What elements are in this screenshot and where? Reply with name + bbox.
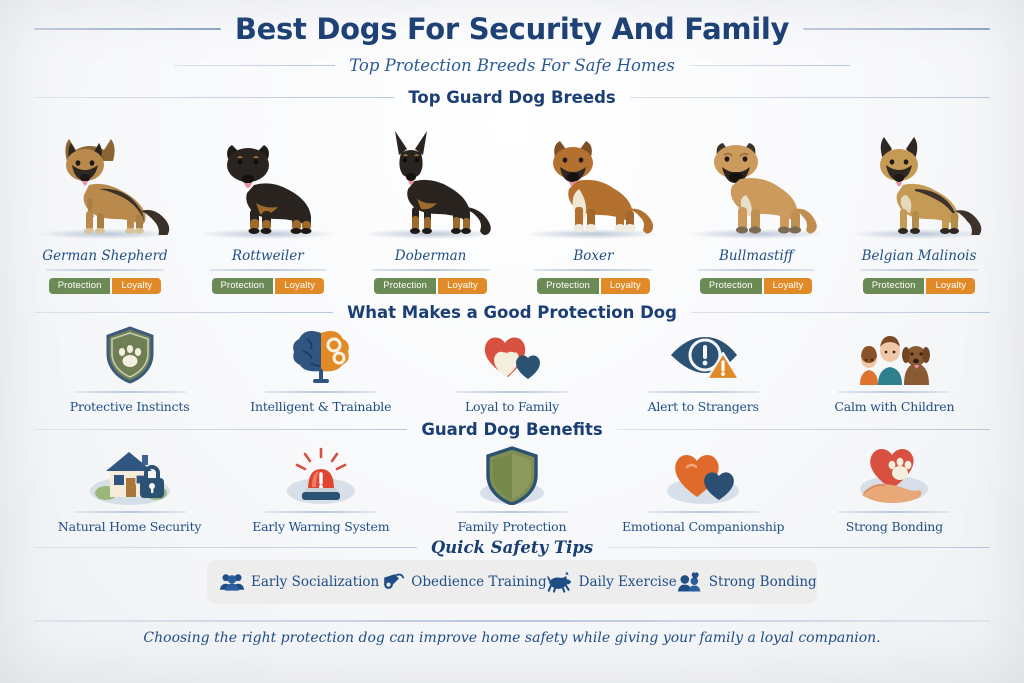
benefit-emotional-companionship[interactable]: Emotional Companionship bbox=[629, 445, 777, 534]
family-with-dog-icon bbox=[848, 325, 940, 385]
traits-rule-left bbox=[34, 312, 333, 314]
breed-card-german-shepherd[interactable]: German Shepherd Protection Loyalty bbox=[24, 116, 186, 295]
footer-divider bbox=[34, 620, 990, 622]
status-badge-protection: Protection bbox=[374, 278, 436, 295]
benefit-label: Emotional Companionship bbox=[622, 519, 784, 534]
tips-rule-right bbox=[607, 547, 990, 549]
benefits-rule-right bbox=[617, 429, 990, 431]
shield-icon bbox=[466, 445, 558, 505]
status-badge-loyalty: Loyalty bbox=[926, 278, 975, 295]
footer-text: Choosing the right protection dog can im… bbox=[0, 630, 1024, 646]
benefits-heading-label: Guard Dog Benefits bbox=[421, 420, 602, 439]
status-badge-protection: Protection bbox=[863, 278, 925, 295]
trait-divider bbox=[838, 391, 950, 393]
breed-divider bbox=[372, 269, 490, 271]
tip-label: Obedience Training bbox=[411, 574, 546, 590]
breed-name: Boxer bbox=[573, 248, 613, 264]
status-badge-loyalty: Loyalty bbox=[438, 278, 487, 295]
breed-divider bbox=[46, 269, 164, 271]
trait-divider bbox=[74, 391, 186, 393]
traits-heading-label: What Makes a Good Protection Dog bbox=[347, 303, 677, 322]
tips-section-heading: Quick Safety Tips bbox=[34, 538, 990, 557]
benefit-label: Early Warning System bbox=[252, 519, 389, 534]
trait-label: Alert to Strangers bbox=[648, 399, 759, 414]
trait-label: Loyal to Family bbox=[465, 399, 559, 414]
breed-list: German Shepherd Protection Loyalty bbox=[24, 104, 1000, 294]
breed-badges: Protection Loyalty bbox=[212, 278, 325, 295]
benefit-divider bbox=[456, 511, 568, 513]
benefit-divider bbox=[838, 511, 950, 513]
benefits-section-heading: Guard Dog Benefits bbox=[34, 420, 990, 439]
status-badge-loyalty: Loyalty bbox=[112, 278, 161, 295]
breed-divider bbox=[209, 269, 327, 271]
breed-name: Rottweiler bbox=[232, 248, 304, 264]
rottweiler-illustration bbox=[192, 116, 344, 241]
subtitle-rule-left bbox=[174, 65, 335, 67]
breed-badges: Protection Loyalty bbox=[374, 278, 487, 295]
benefit-divider bbox=[647, 511, 759, 513]
breed-badges: Protection Loyalty bbox=[700, 278, 813, 295]
benefits-list: Natural Home Security Early Warning Syst… bbox=[34, 445, 990, 534]
traits-rule-right bbox=[691, 312, 990, 314]
tip-obedience-training[interactable]: Obedience Training bbox=[379, 571, 546, 593]
tips-heading-label: Quick Safety Tips bbox=[431, 538, 593, 557]
breed-divider bbox=[534, 269, 652, 271]
breed-divider bbox=[697, 269, 815, 271]
people-group-icon bbox=[219, 571, 245, 593]
breed-card-boxer[interactable]: Boxer Protection Loyalty bbox=[512, 116, 674, 295]
trait-divider bbox=[647, 391, 759, 393]
breed-divider bbox=[860, 269, 978, 271]
status-badge-loyalty: Loyalty bbox=[601, 278, 650, 295]
benefits-rule-left bbox=[34, 429, 407, 431]
two-hearts-icon bbox=[657, 445, 749, 505]
title-rule-right bbox=[803, 28, 990, 30]
benefit-label: Natural Home Security bbox=[58, 519, 201, 534]
breed-name: German Shepherd bbox=[42, 248, 167, 264]
trait-loyal-to-family[interactable]: Loyal to Family bbox=[438, 325, 586, 414]
trait-intelligent-trainable[interactable]: Intelligent & Trainable bbox=[247, 325, 395, 414]
benefit-label: Strong Bonding bbox=[846, 519, 943, 534]
benefit-early-warning-system[interactable]: Early Warning System bbox=[247, 445, 395, 534]
breed-name: Doberman bbox=[395, 248, 467, 264]
benefit-divider bbox=[265, 511, 377, 513]
shield-paw-icon bbox=[84, 325, 176, 385]
people-heart-icon bbox=[677, 571, 703, 593]
status-badge-protection: Protection bbox=[537, 278, 599, 295]
infographic-poster: Best Dogs For Security And Family Top Pr… bbox=[0, 0, 1024, 683]
trait-protective-instincts[interactable]: Protective Instincts bbox=[56, 325, 204, 414]
eye-alert-icon bbox=[657, 325, 749, 385]
trait-alert-to-strangers[interactable]: Alert to Strangers bbox=[629, 325, 777, 414]
tip-early-socialization[interactable]: Early Socialization bbox=[219, 571, 379, 593]
trait-calm-with-children[interactable]: Calm with Children bbox=[820, 325, 968, 414]
trait-label: Intelligent & Trainable bbox=[250, 399, 391, 414]
title-block: Best Dogs For Security And Family Top Pr… bbox=[0, 12, 1024, 75]
tip-strong-bonding[interactable]: Strong Bonding bbox=[677, 571, 817, 593]
trait-label: Calm with Children bbox=[834, 399, 954, 414]
boxer-illustration bbox=[517, 116, 669, 241]
traits-section-heading: What Makes a Good Protection Dog bbox=[34, 303, 990, 322]
title-rule-left bbox=[34, 28, 221, 30]
benefit-natural-home-security[interactable]: Natural Home Security bbox=[56, 445, 204, 534]
siren-icon bbox=[275, 445, 367, 505]
hand-heart-paw-icon bbox=[848, 445, 940, 505]
trait-label: Protective Instincts bbox=[70, 399, 190, 414]
tips-rule-left bbox=[34, 547, 417, 549]
whistle-icon bbox=[379, 571, 405, 593]
trait-divider bbox=[456, 391, 568, 393]
running-dog-icon bbox=[547, 571, 573, 593]
benefit-label: Family Protection bbox=[458, 519, 567, 534]
page-subtitle: Top Protection Breeds For Safe Homes bbox=[349, 56, 675, 75]
brain-gears-icon bbox=[275, 325, 367, 385]
main-title-row: Best Dogs For Security And Family bbox=[34, 12, 990, 46]
breed-badges: Protection Loyalty bbox=[49, 278, 162, 295]
breed-card-bullmastiff[interactable]: Bullmastiff Protection Loyalty bbox=[675, 116, 837, 295]
benefit-family-protection[interactable]: Family Protection bbox=[438, 445, 586, 534]
bullmastiff-illustration bbox=[680, 116, 832, 241]
hearts-icon bbox=[466, 325, 558, 385]
breed-name: Belgian Malinois bbox=[862, 248, 977, 264]
trait-divider bbox=[265, 391, 377, 393]
german-shepherd-illustration bbox=[29, 116, 181, 241]
status-badge-loyalty: Loyalty bbox=[764, 278, 813, 295]
subtitle-rule-right bbox=[689, 65, 850, 67]
breed-card-belgian-malinois[interactable]: Belgian Malinois Protection Loyalty bbox=[838, 116, 1000, 295]
breed-badges: Protection Loyalty bbox=[537, 278, 650, 295]
breed-card-rottweiler[interactable]: Rottweiler Protection Loyalty bbox=[187, 116, 349, 295]
tip-label: Early Socialization bbox=[251, 574, 379, 590]
benefit-strong-bonding[interactable]: Strong Bonding bbox=[820, 445, 968, 534]
breeds-rule-right bbox=[630, 97, 990, 99]
page-title: Best Dogs For Security And Family bbox=[235, 12, 789, 46]
belgian-malinois-illustration bbox=[843, 116, 995, 241]
breed-badges: Protection Loyalty bbox=[863, 278, 976, 295]
breed-name: Bullmastiff bbox=[719, 248, 793, 264]
tip-label: Strong Bonding bbox=[709, 574, 817, 590]
traits-list: Protective Instincts Intelligent & Train… bbox=[34, 325, 990, 414]
benefit-divider bbox=[74, 511, 186, 513]
status-badge-loyalty: Loyalty bbox=[275, 278, 324, 295]
tip-label: Daily Exercise bbox=[579, 574, 677, 590]
house-lock-icon bbox=[84, 445, 176, 505]
breeds-rule-left bbox=[34, 97, 394, 99]
subtitle-row: Top Protection Breeds For Safe Homes bbox=[34, 56, 990, 75]
tip-daily-exercise[interactable]: Daily Exercise bbox=[547, 571, 677, 593]
status-badge-protection: Protection bbox=[49, 278, 111, 295]
status-badge-protection: Protection bbox=[212, 278, 274, 295]
doberman-illustration bbox=[355, 116, 507, 241]
status-badge-protection: Protection bbox=[700, 278, 762, 295]
quick-safety-tips-bar: Early Socialization Obedience Training bbox=[207, 560, 817, 604]
breed-card-doberman[interactable]: Doberman Protection Loyalty bbox=[350, 116, 512, 295]
